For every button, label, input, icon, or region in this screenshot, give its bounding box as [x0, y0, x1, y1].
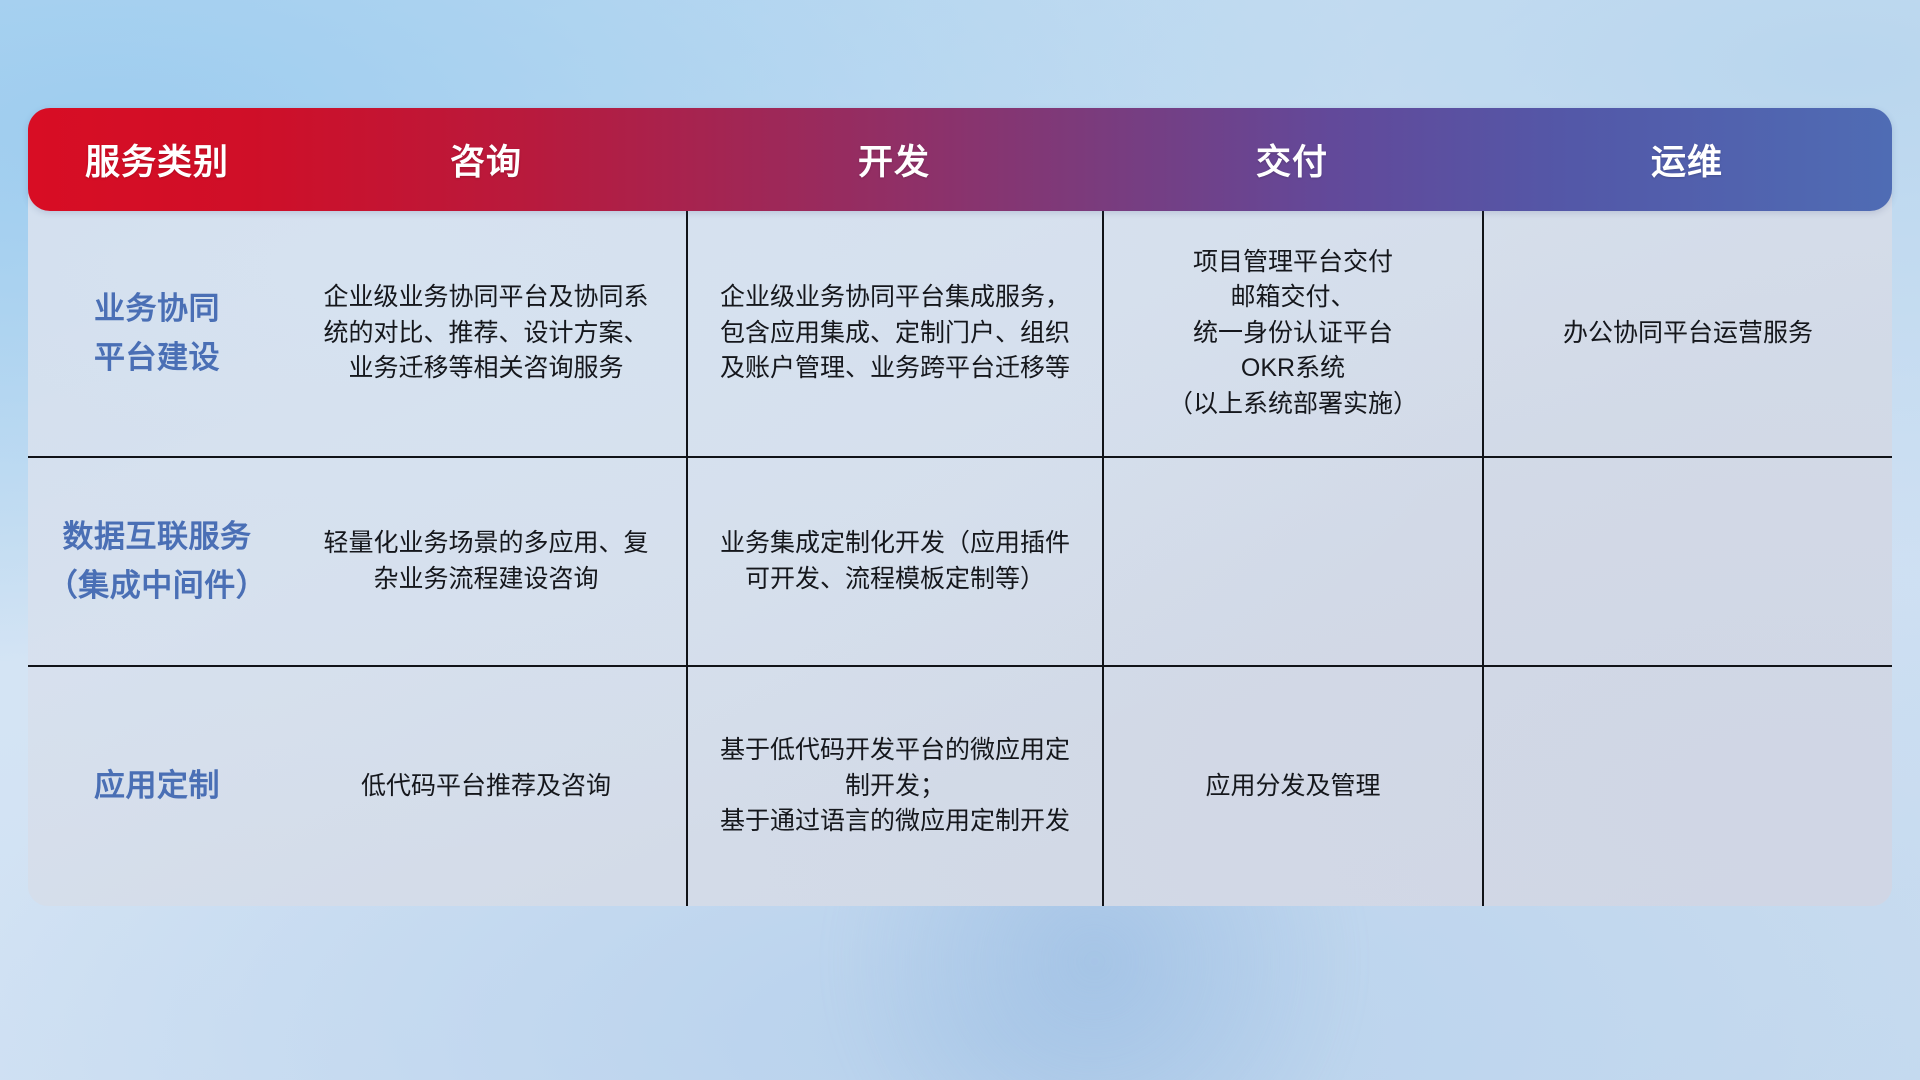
cell-consulting: 企业级业务协同平台及协同系 统的对比、推荐、设计方案、 业务迁移等相关咨询服务 — [286, 211, 686, 456]
service-matrix-table: 服务类别 咨询 开发 交付 运维 业务协同 平台建设 企业级业务协同平台及协同系… — [28, 108, 1892, 906]
column-header-consulting: 咨询 — [286, 134, 686, 185]
cell-consulting: 轻量化业务场景的多应用、复 杂业务流程建设咨询 — [286, 458, 686, 665]
cell-development: 企业级业务协同平台集成服务， 包含应用集成、定制门户、组织 及账户管理、业务跨平… — [686, 211, 1102, 456]
row-category-label: 数据互联服务 （集成中间件） — [28, 458, 286, 665]
cell-development: 业务集成定制化开发（应用插件 可开发、流程模板定制等） — [686, 458, 1102, 665]
column-header-delivery: 交付 — [1102, 134, 1482, 185]
row-category-label: 业务协同 平台建设 — [28, 211, 286, 456]
cell-operations: 办公协同平台运营服务 — [1482, 211, 1892, 456]
cell-delivery: 应用分发及管理 — [1102, 667, 1482, 906]
cell-operations — [1482, 458, 1892, 665]
cell-operations — [1482, 667, 1892, 906]
table-row: 数据互联服务 （集成中间件） 轻量化业务场景的多应用、复 杂业务流程建设咨询 业… — [28, 458, 1892, 667]
column-header-category: 服务类别 — [28, 134, 286, 185]
table-header-row: 服务类别 咨询 开发 交付 运维 — [28, 108, 1892, 211]
column-header-operations: 运维 — [1482, 134, 1892, 185]
cell-development: 基于低代码开发平台的微应用定 制开发； 基于通过语言的微应用定制开发 — [686, 667, 1102, 906]
table-body: 业务协同 平台建设 企业级业务协同平台及协同系 统的对比、推荐、设计方案、 业务… — [28, 193, 1892, 906]
cell-delivery — [1102, 458, 1482, 665]
cell-consulting: 低代码平台推荐及咨询 — [286, 667, 686, 906]
table-row: 业务协同 平台建设 企业级业务协同平台及协同系 统的对比、推荐、设计方案、 业务… — [28, 211, 1892, 458]
cell-delivery: 项目管理平台交付 邮箱交付、 统一身份认证平台 OKR系统 （以上系统部署实施） — [1102, 211, 1482, 456]
table-row: 应用定制 低代码平台推荐及咨询 基于低代码开发平台的微应用定 制开发； 基于通过… — [28, 667, 1892, 906]
row-category-label: 应用定制 — [28, 667, 286, 906]
column-header-development: 开发 — [686, 134, 1102, 185]
